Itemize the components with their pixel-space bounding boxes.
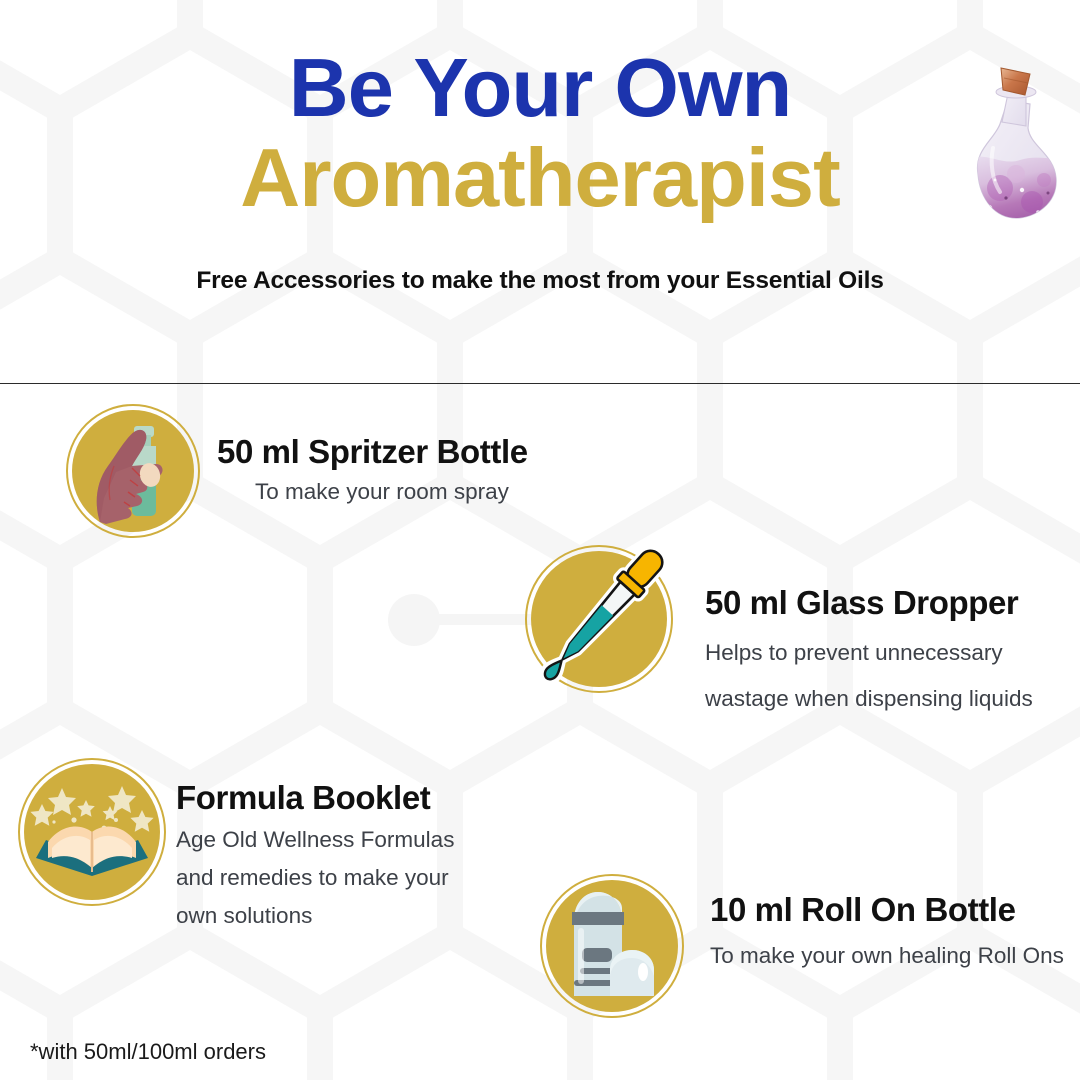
- accessory-item-formula-booklet: Formula Booklet Age Old Wellness Formula…: [18, 758, 454, 931]
- accessory-item-roll-on-bottle: 10 ml Roll On Bottle To make your own he…: [540, 874, 1064, 1018]
- spritzer-text-block: 50 ml Spritzer Bottle To make your room …: [217, 404, 528, 507]
- dropper-description-line2: wastage when dispensing liquids: [705, 684, 1033, 714]
- roll-on-bottle-icon: [540, 874, 684, 1018]
- booklet-text-block: Formula Booklet Age Old Wellness Formula…: [176, 758, 454, 931]
- booklet-title: Formula Booklet: [176, 780, 454, 817]
- accessory-item-spritzer-bottle: 50 ml Spritzer Bottle To make your room …: [66, 404, 528, 538]
- glass-dropper-pipette-icon: [525, 545, 673, 693]
- dropper-title: 50 ml Glass Dropper: [705, 585, 1033, 622]
- section-divider: [0, 383, 1080, 384]
- page-title-line1: Be Your Own: [0, 44, 1080, 132]
- dropper-text-block: 50 ml Glass Dropper Helps to prevent unn…: [705, 545, 1033, 714]
- dropper-badge: [525, 545, 673, 693]
- rollon-description: To make your own healing Roll Ons: [710, 941, 1064, 971]
- booklet-description-line2: and remedies to make your: [176, 863, 454, 893]
- hand-holding-spritzer-bottle-icon: [66, 404, 200, 538]
- open-book-with-stars-icon: [18, 758, 166, 906]
- page-header: Be Your Own Aromatherapist Free Accessor…: [0, 0, 1080, 295]
- booklet-badge: [18, 758, 166, 906]
- spritzer-badge: [66, 404, 200, 538]
- accessory-item-glass-dropper: 50 ml Glass Dropper Helps to prevent unn…: [525, 545, 1033, 714]
- booklet-description-line3: own solutions: [176, 901, 454, 931]
- page-subtitle: Free Accessories to make the most from y…: [0, 267, 1080, 295]
- dropper-description-line1: Helps to prevent unnecessary: [705, 638, 1033, 668]
- rollon-badge: [540, 874, 684, 1018]
- booklet-description-line1: Age Old Wellness Formulas: [176, 825, 454, 855]
- page-title-line2: Aromatherapist: [0, 132, 1080, 225]
- footnote-text: *with 50ml/100ml orders: [30, 1039, 266, 1065]
- spritzer-title: 50 ml Spritzer Bottle: [217, 434, 528, 471]
- rollon-text-block: 10 ml Roll On Bottle To make your own he…: [710, 874, 1064, 971]
- spritzer-description: To make your room spray: [255, 477, 528, 507]
- rollon-title: 10 ml Roll On Bottle: [710, 892, 1064, 929]
- potion-bottle-illustration: [958, 62, 1078, 227]
